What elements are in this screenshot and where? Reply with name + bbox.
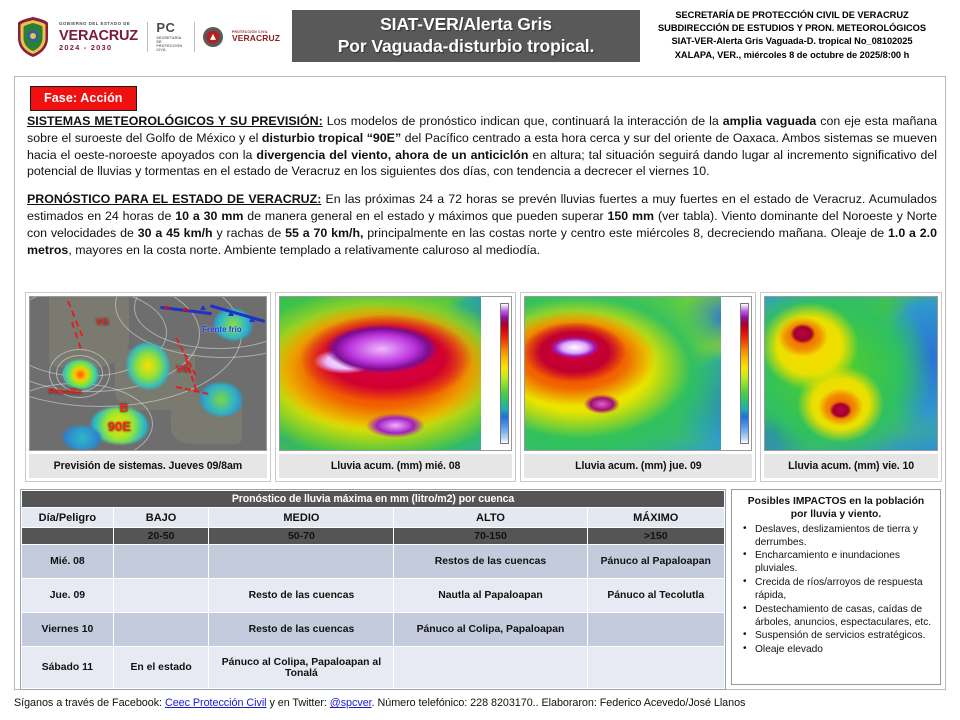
range-cell-maximo: >150 <box>587 528 725 545</box>
gov-years-label: 2024 - 2030 <box>59 44 138 52</box>
paragraph-forecast: PRONÓSTICO PARA EL ESTADO DE VERACRUZ: E… <box>27 191 937 258</box>
footer-text-2: y en Twitter: <box>267 697 330 709</box>
p1-bold-1: amplia vaguada <box>723 114 817 128</box>
impacts-title-line-2: por lluvia y viento. <box>739 509 933 522</box>
cell-day: Jue. 09 <box>22 579 114 613</box>
possible-impacts-box: Posibles IMPACTOS en la población por ll… <box>731 489 941 685</box>
gov-top-label: GOBIERNO DEL ESTADO DE <box>59 22 138 26</box>
footer-text-1: Síganos a través de Facebook: <box>14 697 165 709</box>
table-header-row: Día/Peligro BAJO MEDIO ALTO MÁXIMO <box>22 508 725 528</box>
pcv-big-label: VERACRUZ <box>232 34 280 43</box>
p2-text-4: y rachas de <box>213 226 286 240</box>
panel-precip-thu: Lluvia acum. (mm) jue. 09 <box>520 292 756 482</box>
cell-alto: Nautla al Papaloapan <box>394 579 587 613</box>
p2-text-2: de manera general en el estado y máximos… <box>243 209 607 223</box>
table-row: Viernes 10 Resto de las cuencas Pánuco a… <box>22 613 725 647</box>
p2-bold-3: 30 a 45 km/h <box>138 226 213 240</box>
annotation-priscilla: Priscilla <box>49 386 82 396</box>
table-title-row: Pronóstico de lluvia máxima en mm (litro… <box>22 491 725 508</box>
government-wordmark: GOBIERNO DEL ESTADO DE VERACRUZ 2024 - 2… <box>59 22 138 51</box>
rainfall-forecast-table: Pronóstico de lluvia máxima en mm (litro… <box>21 490 725 689</box>
cell-medio: Resto de las cuencas <box>209 579 394 613</box>
document-header: GOBIERNO DEL ESTADO DE VERACRUZ 2024 - 2… <box>0 0 960 74</box>
bulletin-datetime: XALAPA, VER., miércoles 8 de octubre de … <box>632 49 952 62</box>
triangle-glyph-icon <box>210 34 216 40</box>
impacts-list: Deslaves, deslizamientos de tierra y der… <box>739 524 933 657</box>
annotation-vg-2: VG <box>176 364 189 374</box>
column-header-medio: MEDIO <box>209 508 394 528</box>
precip-raster-wed <box>280 297 512 450</box>
range-cell-medio: 50-70 <box>209 528 394 545</box>
precip-raster-thu <box>525 297 751 450</box>
range-cell-bajo: 20-50 <box>113 528 209 545</box>
panel-caption-precip-fri: Lluvia acum. (mm) vie. 10 <box>764 454 938 478</box>
pcv-wordmark: PROTECCIÓN CIVIL VERACRUZ <box>232 31 280 44</box>
twitter-link[interactable]: @spcver <box>330 697 372 709</box>
precip-map-image-thu <box>524 296 752 451</box>
p1-text-1: Los modelos de pronóstico indican que, c… <box>323 114 723 128</box>
colorbar-container-thu <box>721 297 751 450</box>
column-header-day: Día/Peligro <box>22 508 114 528</box>
paragraph-systems-lead: SISTEMAS METEOROLÓGICOS Y SU PREVISIÓN: <box>27 114 323 128</box>
cell-day: Sábado 11 <box>22 647 114 689</box>
panel-caption-precip-wed: Lluvia acum. (mm) mié. 08 <box>279 454 513 478</box>
p2-text-6: , mayores en la costa norte. Ambiente te… <box>68 243 540 257</box>
logo-group: GOBIERNO DEL ESTADO DE VERACRUZ 2024 - 2… <box>0 16 280 58</box>
p1-bold-2: disturbio tropical “90E” <box>262 131 401 145</box>
cell-medio: Resto de las cuencas <box>209 613 394 647</box>
agency-line-2: SUBDIRECCIÓN DE ESTUDIOS Y PRON. METEORO… <box>632 22 952 35</box>
range-cell-day <box>22 528 114 545</box>
status-badge: Fase: Acción <box>30 86 137 111</box>
cell-alto: Restos de las cuencas <box>394 545 587 579</box>
cell-day: Viernes 10 <box>22 613 114 647</box>
precip-colorbar-thu <box>740 303 749 444</box>
footer-text-3: . Número telefónico: 228 8203170.. Elabo… <box>372 697 746 709</box>
pc-subtitle-label: SECRETARÍA DE PROTECCIÓN CIVIL <box>156 37 184 53</box>
forecast-text-block: SISTEMAS METEOROLÓGICOS Y SU PREVISIÓN: … <box>27 113 937 258</box>
synoptic-map-graphic: VG VG Priscilla B 90E Frente frío <box>30 297 266 450</box>
panel-caption-synoptic: Previsión de sistemas. Jueves 09/8am <box>29 454 267 478</box>
cell-alto <box>394 647 587 689</box>
table-range-row: 20-50 50-70 70-150 >150 <box>22 528 725 545</box>
cell-medio: Pánuco al Colipa, Papaloapan al Tonalá <box>209 647 394 689</box>
colorbar-container-wed <box>481 297 511 450</box>
annotation-low-pressure-b: B <box>120 401 129 415</box>
panel-caption-precip-thu: Lluvia acum. (mm) jue. 09 <box>524 454 752 478</box>
paragraph-systems: SISTEMAS METEOROLÓGICOS Y SU PREVISIÓN: … <box>27 113 937 180</box>
list-item: Suspensión de servicios estratégicos. <box>739 630 933 643</box>
cell-bajo <box>113 545 209 579</box>
column-header-bajo: BAJO <box>113 508 209 528</box>
cell-maximo: Pánuco al Tecolutla <box>587 579 725 613</box>
list-item: Encharcamiento e inundaciones pluviales. <box>739 550 933 576</box>
veracruz-coat-of-arms-icon <box>16 16 50 58</box>
panel-synoptic-forecast: VG VG Priscilla B 90E Frente frío Previs… <box>25 292 271 482</box>
document-body: Fase: Acción SISTEMAS METEOROLÓGICOS Y S… <box>14 76 946 690</box>
map-panel-row: VG VG Priscilla B 90E Frente frío Previs… <box>20 292 942 482</box>
panel-precip-wed: Lluvia acum. (mm) mié. 08 <box>275 292 517 482</box>
cell-maximo <box>587 613 725 647</box>
rainfall-forecast-table-wrapper: Pronóstico de lluvia máxima en mm (litro… <box>20 489 726 690</box>
alert-document-page: GOBIERNO DEL ESTADO DE VERACRUZ 2024 - 2… <box>0 0 960 720</box>
cell-medio <box>209 545 394 579</box>
document-footer: Síganos a través de Facebook: Ceec Prote… <box>14 697 954 709</box>
cell-bajo <box>113 613 209 647</box>
pc-acronym-label: PC <box>156 21 184 35</box>
issuing-agency-block: SECRETARÍA DE PROTECCIÓN CIVIL DE VERACR… <box>632 9 952 62</box>
cell-bajo: En el estado <box>113 647 209 689</box>
impacts-title-line-1: Posibles IMPACTOS en la población <box>739 496 933 509</box>
cell-day: Mié. 08 <box>22 545 114 579</box>
annotation-vg-1: VG <box>96 317 109 327</box>
precip-map-image-wed <box>279 296 513 451</box>
table-row: Jue. 09 Resto de las cuencas Nautla al P… <box>22 579 725 613</box>
p2-bold-4: 55 a 70 km/h, <box>285 226 363 240</box>
paragraph-forecast-lead: PRONÓSTICO PARA EL ESTADO DE VERACRUZ: <box>27 192 321 206</box>
alert-title-banner: SIAT-VER/Alerta Gris Por Vaguada-disturb… <box>292 10 640 62</box>
gov-state-label: VERACRUZ <box>59 29 138 44</box>
cell-alto: Pánuco al Colipa, Papaloapan <box>394 613 587 647</box>
p2-text-5: principalmente en las costas norte y cen… <box>363 226 888 240</box>
p2-bold-1: 10 a 30 mm <box>175 209 243 223</box>
impacts-title: Posibles IMPACTOS en la población por ll… <box>739 496 933 522</box>
list-item: Oleaje elevado <box>739 644 933 657</box>
facebook-link[interactable]: Ceec Protección Civil <box>165 697 267 709</box>
precip-map-image-fri <box>764 296 938 451</box>
cell-maximo: Pánuco al Papaloapan <box>587 545 725 579</box>
range-cell-alto: 70-150 <box>394 528 587 545</box>
cell-bajo <box>113 579 209 613</box>
annotation-frente-frio: Frente frío <box>202 325 242 334</box>
p1-bold-3: divergencia del viento, ahora de un anti… <box>256 148 528 162</box>
table-row: Mié. 08 Restos de las cuencas Pánuco al … <box>22 545 725 579</box>
alert-title-line-1: SIAT-VER/Alerta Gris <box>380 14 552 36</box>
column-header-maximo: MÁXIMO <box>587 508 725 528</box>
proteccion-civil-emblem-icon <box>203 27 223 47</box>
precip-raster-fri <box>765 297 937 450</box>
bulletin-number: SIAT-VER-Alerta Gris Vaguada-D. tropical… <box>632 35 952 48</box>
pc-wordmark: PC SECRETARÍA DE PROTECCIÓN CIVIL <box>156 21 184 53</box>
table-title: Pronóstico de lluvia máxima en mm (litro… <box>22 491 725 508</box>
list-item: Crecida de ríos/arroyos de respuesta ráp… <box>739 577 933 603</box>
cell-maximo <box>587 647 725 689</box>
alert-title-line-2: Por Vaguada-disturbio tropical. <box>338 36 595 58</box>
list-item: Destechamiento de casas, caídas de árbol… <box>739 604 933 630</box>
annotation-90e: 90E <box>108 419 131 434</box>
agency-line-1: SECRETARÍA DE PROTECCIÓN CIVIL DE VERACR… <box>632 9 952 22</box>
list-item: Deslaves, deslizamientos de tierra y der… <box>739 524 933 550</box>
synoptic-map-image: VG VG Priscilla B 90E Frente frío <box>29 296 267 451</box>
precip-colorbar-wed <box>500 303 509 444</box>
column-header-alto: ALTO <box>394 508 587 528</box>
p2-bold-2: 150 mm <box>607 209 654 223</box>
table-row: Sábado 11 En el estado Pánuco al Colipa,… <box>22 647 725 689</box>
panel-precip-fri: Lluvia acum. (mm) vie. 10 <box>760 292 942 482</box>
